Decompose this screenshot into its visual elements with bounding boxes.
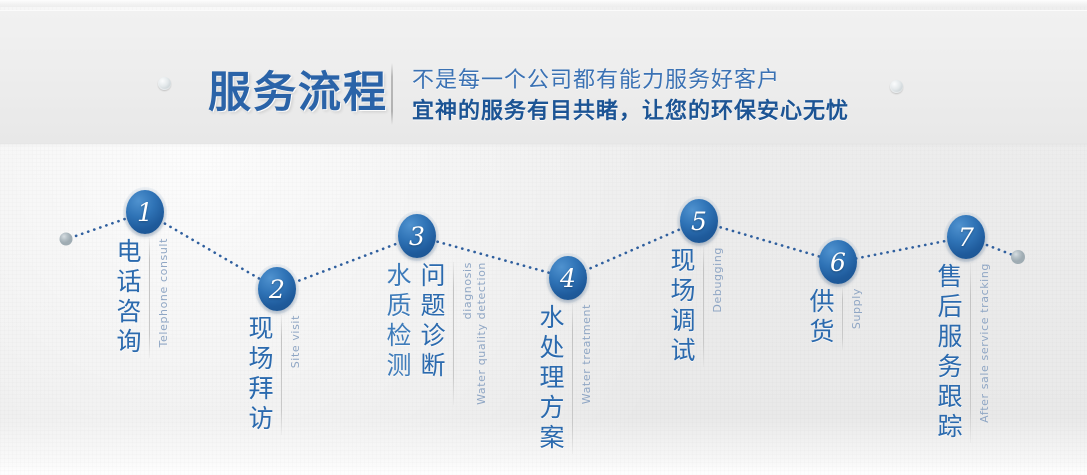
step-number-label: 4: [560, 266, 576, 291]
step-label-en: Water treatment: [580, 304, 593, 404]
step-number-badge[interactable]: 4: [549, 256, 587, 300]
step-label-cn-secondary: 水质检测: [382, 262, 412, 382]
step-number-label: 3: [409, 224, 425, 249]
step-labels: 现场调试 Debugging: [666, 247, 724, 367]
step-number-badge[interactable]: 2: [258, 267, 296, 311]
step-label-cn: 水处理方案: [535, 304, 565, 454]
step-label-en: After sale service tracking: [978, 263, 991, 423]
title-divider: [391, 63, 393, 125]
step-labels: 电话咨询 Telephone consult: [112, 238, 170, 358]
step-number-badge[interactable]: 1: [126, 190, 164, 234]
step-number-label: 6: [830, 250, 846, 275]
subtitle-line-1: 不是每一个公司都有能力服务好客户: [412, 66, 849, 96]
step-labels: 问题诊断 水质检测 Water quality detection diagno…: [382, 262, 488, 405]
step-number-label: 7: [958, 225, 974, 250]
step-number-label: 2: [269, 277, 285, 302]
step-number-badge[interactable]: 7: [947, 215, 985, 259]
step-label-cn: 现场拜访: [244, 315, 274, 435]
step-number-badge[interactable]: 5: [680, 199, 718, 243]
step-label-cn-group: 供货: [805, 288, 835, 348]
step-labels: 售后服务跟踪 After sale service tracking: [933, 263, 991, 443]
step-label-cn-group: 现场调试: [666, 247, 696, 367]
step-label-en: Water quality detection: [475, 262, 488, 405]
subtitle-line-2: 宜神的服务有目共睹，让您的环保安心无忧: [412, 96, 849, 128]
step-label-cn-group: 水处理方案: [535, 304, 565, 454]
step-label-cn: 电话咨询: [112, 238, 142, 358]
step-label-cn: 现场调试: [666, 247, 696, 367]
step-label-cn-group: 售后服务跟踪: [933, 263, 963, 443]
label-separator-line: [970, 263, 971, 443]
subtitle-block: 不是每一个公司都有能力服务好客户 宜神的服务有目共睹，让您的环保安心无忧: [412, 66, 849, 128]
step-labels: 水处理方案 Water treatment: [535, 304, 593, 454]
label-separator-line: [703, 247, 704, 367]
step-label-en-secondary: diagnosis: [461, 262, 474, 319]
step-label-en: Telephone consult: [157, 238, 170, 347]
step-label-en: Supply: [850, 288, 863, 329]
step-label-en: Site visit: [289, 315, 302, 368]
step-number-label: 1: [137, 200, 153, 225]
header-panel: 服务流程 不是每一个公司都有能力服务好客户 宜神的服务有目共睹，让您的环保安心无…: [0, 10, 1087, 144]
step-labels: 现场拜访 Site visit: [244, 315, 302, 435]
step-label-en-group: Water quality detection diagnosis: [461, 262, 488, 405]
label-separator-line: [281, 315, 282, 435]
screw-decoration-left-icon: [158, 77, 171, 90]
step-labels: 供货 Supply: [805, 288, 863, 350]
page-title: 服务流程: [208, 58, 388, 120]
step-number-badge[interactable]: 3: [398, 214, 436, 258]
step-label-cn-group: 问题诊断 水质检测: [382, 262, 446, 382]
screw-decoration-right-icon: [890, 80, 903, 93]
service-process-banner: 服务流程 不是每一个公司都有能力服务好客户 宜神的服务有目共睹，让您的环保安心无…: [0, 0, 1087, 475]
step-number-label: 5: [691, 209, 707, 234]
step-label-cn-group: 现场拜访: [244, 315, 274, 435]
step-label-cn: 供货: [805, 288, 835, 348]
label-separator-line: [572, 304, 573, 454]
step-label-cn: 售后服务跟踪: [933, 263, 963, 443]
step-number-badge[interactable]: 6: [819, 240, 857, 284]
step-label-en: Debugging: [711, 247, 724, 313]
label-separator-line: [842, 288, 843, 350]
label-separator-line: [453, 262, 454, 405]
step-label-cn-group: 电话咨询: [112, 238, 142, 358]
step-label-cn: 问题诊断: [416, 262, 446, 382]
label-separator-line: [149, 238, 150, 358]
